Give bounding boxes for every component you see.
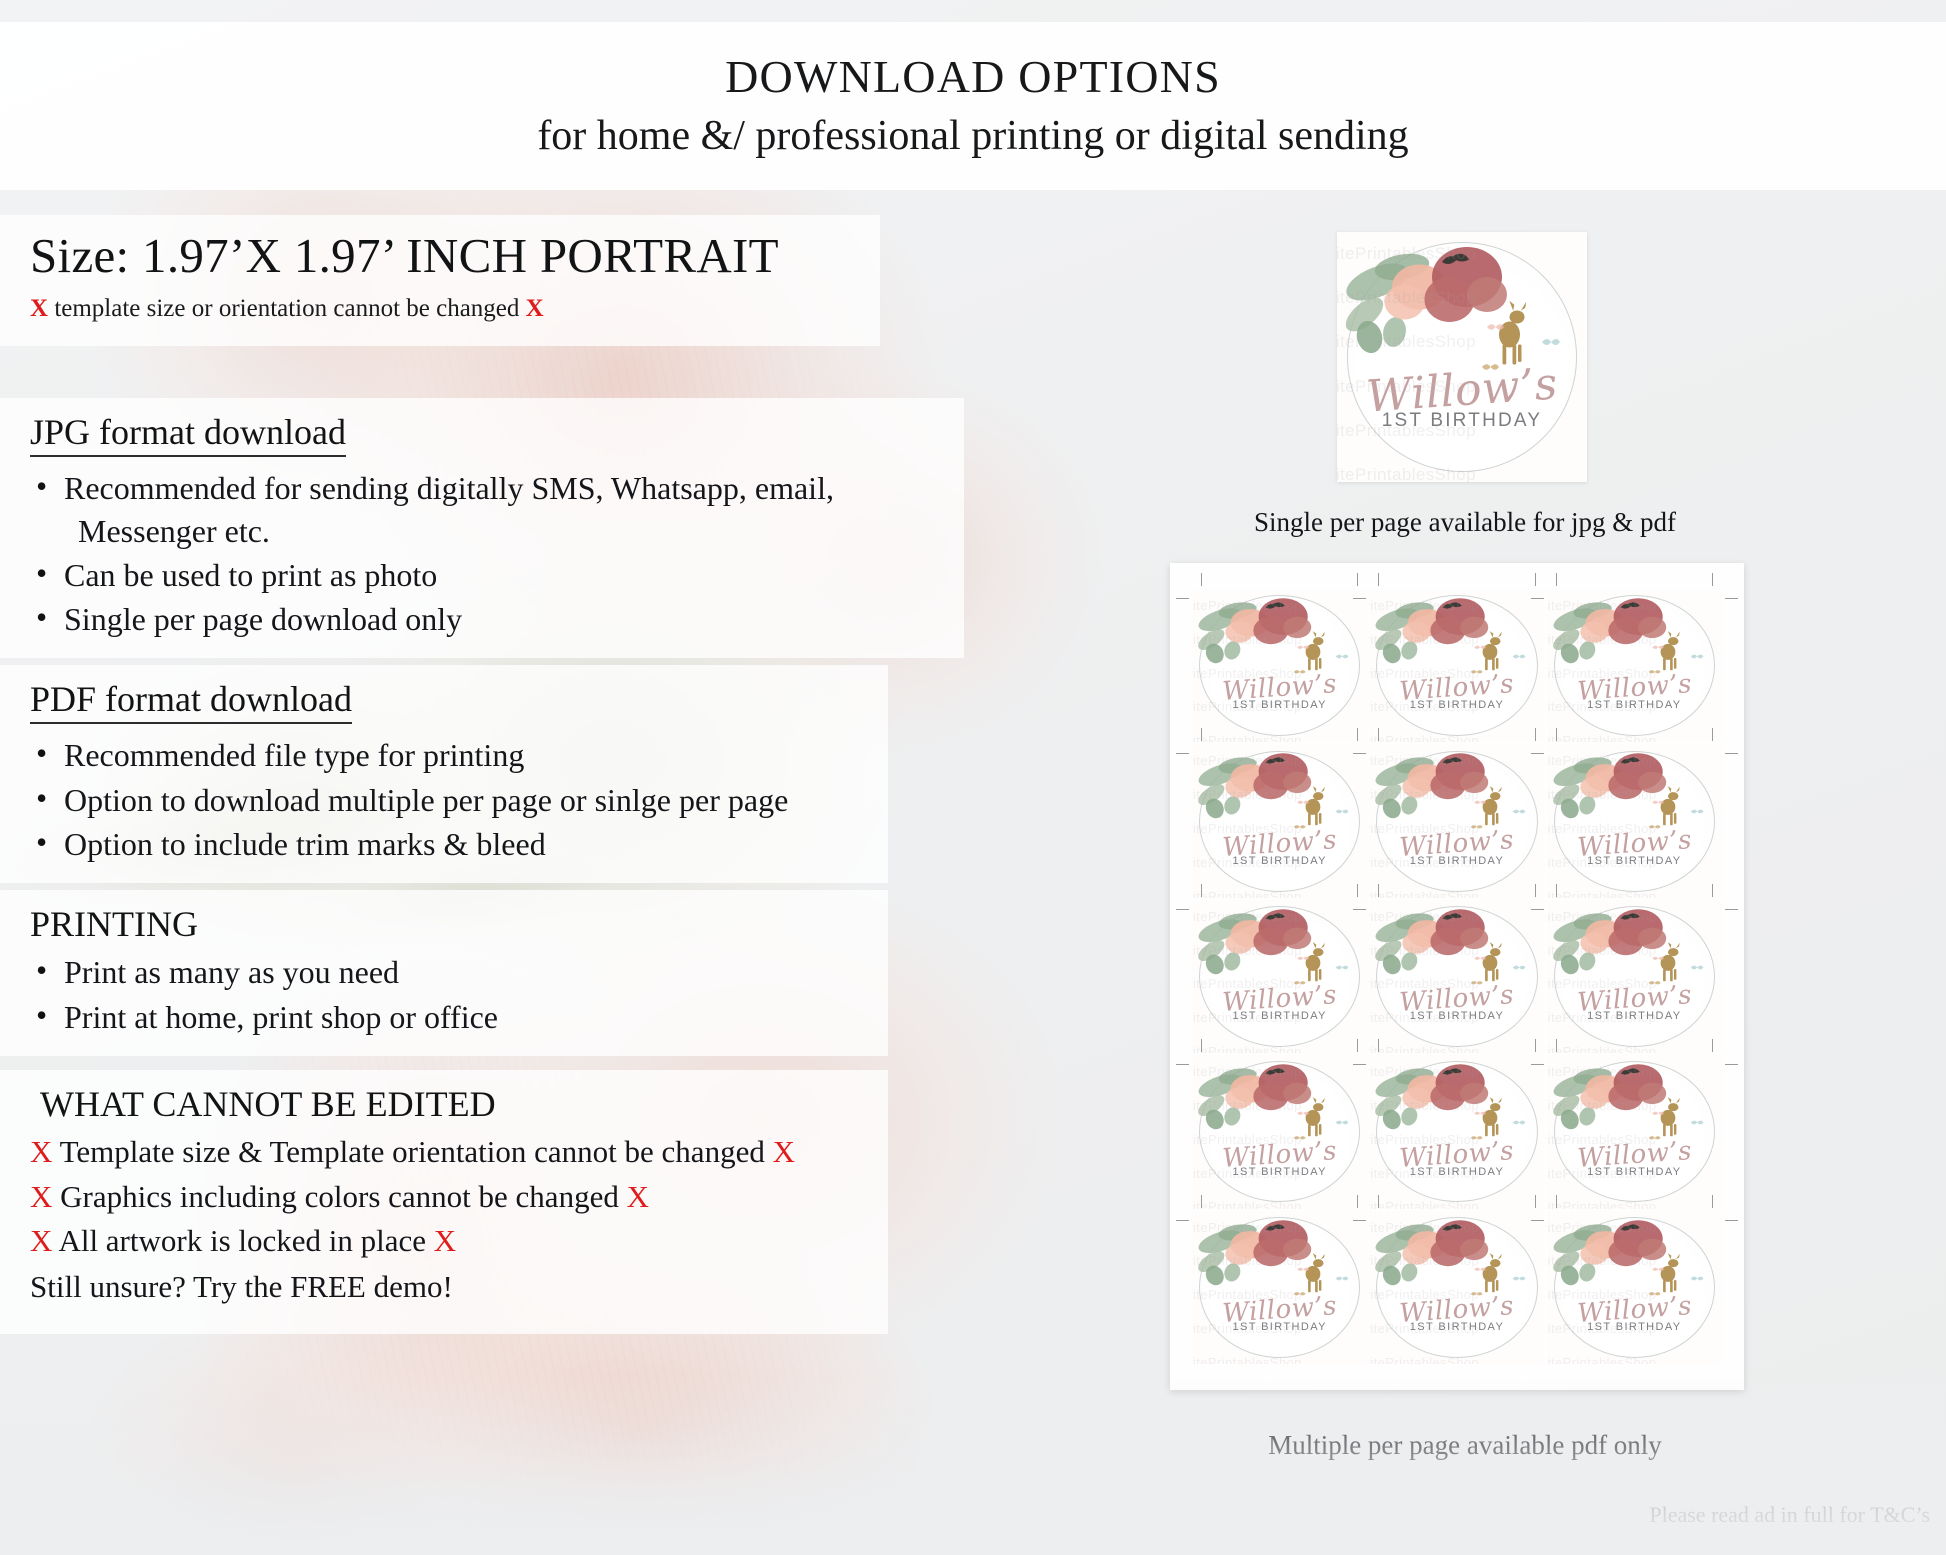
pdf-bullet-list: Recommended file type for printing Optio… <box>30 734 862 865</box>
trim-mark <box>1378 728 1379 741</box>
sticker-occasion-text: 1ST BIRTHDAY <box>1369 1010 1544 1022</box>
trim-mark <box>1378 884 1379 897</box>
sticker-artwork: InvitePrintablesShopInvitePrintablesShop… <box>1547 744 1722 897</box>
trim-mark <box>1556 573 1557 586</box>
red-x-icon: X <box>526 295 544 322</box>
cannot-edit-title: WHAT CANNOT BE EDITED <box>40 1084 496 1125</box>
sticker-occasion-text: 1ST BIRTHDAY <box>1547 699 1722 711</box>
sticker-occasion-text: 1ST BIRTHDAY <box>1192 699 1367 711</box>
trim-mark <box>1353 753 1366 754</box>
trim-mark <box>1201 1039 1202 1052</box>
trim-mark <box>1357 884 1358 897</box>
trim-mark <box>1556 1039 1557 1052</box>
size-note: X template size or orientation cannot be… <box>30 294 854 324</box>
cannot-edit-line: X All artwork is locked in place X <box>30 1220 862 1262</box>
cannot-edit-line: X Template size & Template orientation c… <box>30 1131 862 1173</box>
red-x-icon: X <box>30 1134 52 1169</box>
trim-mark <box>1357 1039 1358 1052</box>
trim-mark <box>1353 598 1366 599</box>
sticker-floral-graphics <box>1192 744 1367 897</box>
trim-mark <box>1531 753 1544 754</box>
sticker-occasion-text: 1ST BIRTHDAY <box>1547 1321 1722 1333</box>
size-note-text: template size or orientation cannot be c… <box>54 295 519 322</box>
sticker-artwork: InvitePrintablesShopInvitePrintablesShop… <box>1369 1211 1544 1364</box>
sticker-artwork: InvitePrintablesShopInvitePrintablesShop… <box>1192 900 1367 1053</box>
size-heading: Size: 1.97’X 1.97’ INCH PORTRAIT <box>30 229 854 284</box>
trim-mark <box>1357 728 1358 741</box>
sticker-artwork: InvitePrintablesShopInvitePrintablesShop… <box>1547 1211 1722 1364</box>
sticker-artwork: InvitePrintablesShopInvitePrintablesShop… <box>1192 1055 1367 1208</box>
sheet-cell: InvitePrintablesShopInvitePrintablesShop… <box>1369 900 1544 1053</box>
red-x-icon: X <box>30 1223 52 1258</box>
sheet-cell: InvitePrintablesShopInvitePrintablesShop… <box>1369 1055 1544 1208</box>
sheet-cell: InvitePrintablesShopInvitePrintablesShop… <box>1192 1211 1367 1364</box>
sticker-occasion-text: 1ST BIRTHDAY <box>1369 855 1544 867</box>
list-item: Option to include trim marks & bleed <box>30 823 862 865</box>
red-x-icon: X <box>434 1223 456 1258</box>
jpg-format-panel: JPG format download Recommended for send… <box>0 398 964 658</box>
list-item: Can be used to print as photo <box>30 554 938 596</box>
sticker-floral-graphics <box>1369 1211 1544 1364</box>
trim-mark <box>1531 1064 1544 1065</box>
sheet-cell: InvitePrintablesShopInvitePrintablesShop… <box>1192 900 1367 1053</box>
sticker-floral-graphics <box>1192 1055 1367 1208</box>
pdf-section-title: PDF format download <box>30 679 352 724</box>
sticker-artwork: InvitePrintablesShopInvitePrintablesShop… <box>1547 1055 1722 1208</box>
red-x-icon: X <box>30 1179 52 1214</box>
terms-note: Please read ad in full for T&C’s <box>1330 1502 1930 1528</box>
cannot-edit-line-text: Graphics including colors cannot be chan… <box>60 1179 619 1214</box>
trim-mark <box>1201 884 1202 897</box>
sticker-occasion-text: 1ST BIRTHDAY <box>1369 699 1544 711</box>
trim-mark <box>1201 728 1202 741</box>
trim-mark <box>1176 1220 1189 1221</box>
sticker-occasion-text: 1ST BIRTHDAY <box>1369 1166 1544 1178</box>
cannot-edit-line-text: Template size & Template orientation can… <box>60 1134 765 1169</box>
sticker-floral-graphics <box>1369 1055 1544 1208</box>
trim-mark <box>1725 909 1738 910</box>
sticker-artwork: InvitePrintablesShopInvitePrintablesShop… <box>1192 1211 1367 1364</box>
trim-mark <box>1357 573 1358 586</box>
trim-mark <box>1712 1039 1713 1052</box>
list-item: Recommended file type for printing <box>30 734 862 776</box>
sheet-cell: InvitePrintablesShopInvitePrintablesShop… <box>1547 900 1722 1053</box>
trim-mark <box>1535 728 1536 741</box>
trim-mark <box>1556 728 1557 741</box>
size-panel: Size: 1.97’X 1.97’ INCH PORTRAIT X templ… <box>0 215 880 346</box>
sticker-artwork: InvitePrintablesShop InvitePrintablesSho… <box>1337 232 1587 482</box>
trim-mark <box>1535 884 1536 897</box>
trim-mark <box>1725 1064 1738 1065</box>
sticker-floral-graphics <box>1547 1055 1722 1208</box>
trim-mark <box>1378 1195 1379 1208</box>
red-x-icon: X <box>627 1179 649 1214</box>
page-title: DOWNLOAD OPTIONS <box>725 50 1221 104</box>
sheet-cell: InvitePrintablesShopInvitePrintablesShop… <box>1369 1211 1544 1364</box>
jpg-section-title: JPG format download <box>30 412 346 457</box>
sticker-artwork: InvitePrintablesShopInvitePrintablesShop… <box>1547 900 1722 1053</box>
sticker-floral-graphics <box>1547 744 1722 897</box>
bullet-text: Recommended for sending digitally SMS, W… <box>64 470 834 506</box>
sheet-cell: InvitePrintablesShopInvitePrintablesShop… <box>1192 744 1367 897</box>
sheet-cell: InvitePrintablesShopInvitePrintablesShop… <box>1547 589 1722 742</box>
trim-mark <box>1176 1064 1189 1065</box>
sticker-sheet-grid: InvitePrintablesShopInvitePrintablesShop… <box>1192 589 1722 1364</box>
trim-mark <box>1556 884 1557 897</box>
list-item: Print at home, print shop or office <box>30 996 862 1038</box>
sticker-occasion-text: 1ST BIRTHDAY <box>1192 1166 1367 1178</box>
trim-mark <box>1725 1220 1738 1221</box>
trim-mark <box>1712 573 1713 586</box>
red-x-icon: X <box>30 295 48 322</box>
sticker-artwork: InvitePrintablesShopInvitePrintablesShop… <box>1369 744 1544 897</box>
sticker-artwork: InvitePrintablesShopInvitePrintablesShop… <box>1369 900 1544 1053</box>
sticker-floral-graphics <box>1192 589 1367 742</box>
trim-mark <box>1712 884 1713 897</box>
pdf-format-panel: PDF format download Recommended file typ… <box>0 665 888 883</box>
sticker-artwork: InvitePrintablesShopInvitePrintablesShop… <box>1192 744 1367 897</box>
trim-mark <box>1201 573 1202 586</box>
trim-mark <box>1353 909 1366 910</box>
list-item: Print as many as you need <box>30 951 862 993</box>
sheet-cell: InvitePrintablesShopInvitePrintablesShop… <box>1192 589 1367 742</box>
header-band: DOWNLOAD OPTIONS for home &/ professiona… <box>0 22 1946 190</box>
sticker-artwork: InvitePrintablesShopInvitePrintablesShop… <box>1547 589 1722 742</box>
sticker-occasion-text: 1ST BIRTHDAY <box>1369 1321 1544 1333</box>
sticker-occasion-text: 1ST BIRTHDAY <box>1547 1166 1722 1178</box>
sticker-floral-graphics <box>1547 1211 1722 1364</box>
trim-mark <box>1535 573 1536 586</box>
trim-mark <box>1357 1195 1358 1208</box>
sticker-occasion-text: 1ST BIRTHDAY <box>1192 1321 1367 1333</box>
trim-mark <box>1176 753 1189 754</box>
sticker-floral-graphics <box>1192 1211 1367 1364</box>
list-item: Recommended for sending digitally SMS, W… <box>30 467 938 551</box>
single-per-page-preview: InvitePrintablesShop InvitePrintablesSho… <box>1337 232 1587 482</box>
trim-mark <box>1712 728 1713 741</box>
trim-mark <box>1712 1195 1713 1208</box>
trim-mark <box>1176 598 1189 599</box>
sheet-cell: InvitePrintablesShopInvitePrintablesShop… <box>1547 1211 1722 1364</box>
trim-mark <box>1531 909 1544 910</box>
sticker-occasion-text: 1ST BIRTHDAY <box>1192 1010 1367 1022</box>
sticker-occasion-text: 1ST BIRTHDAY <box>1547 1010 1722 1022</box>
bullet-continuation: Messenger etc. <box>64 510 938 552</box>
red-x-icon: X <box>773 1134 795 1169</box>
printing-section-title: PRINTING <box>30 904 198 945</box>
multiple-per-page-preview: InvitePrintablesShopInvitePrintablesShop… <box>1170 563 1744 1390</box>
sheet-cell: InvitePrintablesShopInvitePrintablesShop… <box>1369 744 1544 897</box>
trim-mark <box>1176 909 1189 910</box>
sticker-occasion-text: 1ST BIRTHDAY <box>1337 410 1587 432</box>
sheet-cell: InvitePrintablesShopInvitePrintablesShop… <box>1192 1055 1367 1208</box>
trim-mark <box>1535 1195 1536 1208</box>
jpg-bullet-list: Recommended for sending digitally SMS, W… <box>30 467 938 640</box>
sheet-cell: InvitePrintablesShopInvitePrintablesShop… <box>1547 1055 1722 1208</box>
sticker-artwork: InvitePrintablesShopInvitePrintablesShop… <box>1369 1055 1544 1208</box>
sticker-floral-graphics <box>1369 744 1544 897</box>
trim-mark <box>1201 1195 1202 1208</box>
printing-panel: PRINTING Print as many as you need Print… <box>0 890 888 1056</box>
sticker-floral-graphics <box>1547 589 1722 742</box>
trim-mark <box>1531 1220 1544 1221</box>
cannot-edit-panel: WHAT CANNOT BE EDITED X Template size & … <box>0 1070 888 1334</box>
trim-mark <box>1378 1039 1379 1052</box>
list-item: Option to download multiple per page or … <box>30 779 862 821</box>
printing-bullet-list: Print as many as you need Print at home,… <box>30 951 862 1037</box>
cannot-edit-line: X Graphics including colors cannot be ch… <box>30 1176 862 1218</box>
sticker-artwork: InvitePrintablesShopInvitePrintablesShop… <box>1369 589 1544 742</box>
sticker-occasion-text: 1ST BIRTHDAY <box>1547 855 1722 867</box>
free-demo-line: Still unsure? Try the FREE demo! <box>30 1266 862 1308</box>
sticker-occasion-text: 1ST BIRTHDAY <box>1192 855 1367 867</box>
single-preview-caption: Single per page available for jpg & pdf <box>1110 505 1820 540</box>
sticker-floral-graphics <box>1369 900 1544 1053</box>
trim-mark <box>1725 753 1738 754</box>
trim-mark <box>1378 573 1379 586</box>
download-options-listing-image: DOWNLOAD OPTIONS for home &/ professiona… <box>0 0 1946 1555</box>
cannot-edit-line-text: All artwork is locked in place <box>58 1223 426 1258</box>
trim-mark <box>1353 1064 1366 1065</box>
trim-mark <box>1535 1039 1536 1052</box>
multi-preview-caption: Multiple per page available pdf only <box>1110 1428 1820 1463</box>
sticker-artwork: InvitePrintablesShopInvitePrintablesShop… <box>1192 589 1367 742</box>
sticker-floral-graphics <box>1369 589 1544 742</box>
sticker-floral-graphics <box>1192 900 1367 1053</box>
sheet-cell: InvitePrintablesShopInvitePrintablesShop… <box>1547 744 1722 897</box>
sticker-floral-graphics <box>1547 900 1722 1053</box>
page-subtitle: for home &/ professional printing or dig… <box>537 111 1408 162</box>
sticker-floral-graphics <box>1337 232 1587 482</box>
list-item: Single per page download only <box>30 598 938 640</box>
trim-mark <box>1725 598 1738 599</box>
trim-mark <box>1531 598 1544 599</box>
sheet-cell: InvitePrintablesShopInvitePrintablesShop… <box>1369 589 1544 742</box>
trim-mark <box>1556 1195 1557 1208</box>
trim-mark <box>1353 1220 1366 1221</box>
